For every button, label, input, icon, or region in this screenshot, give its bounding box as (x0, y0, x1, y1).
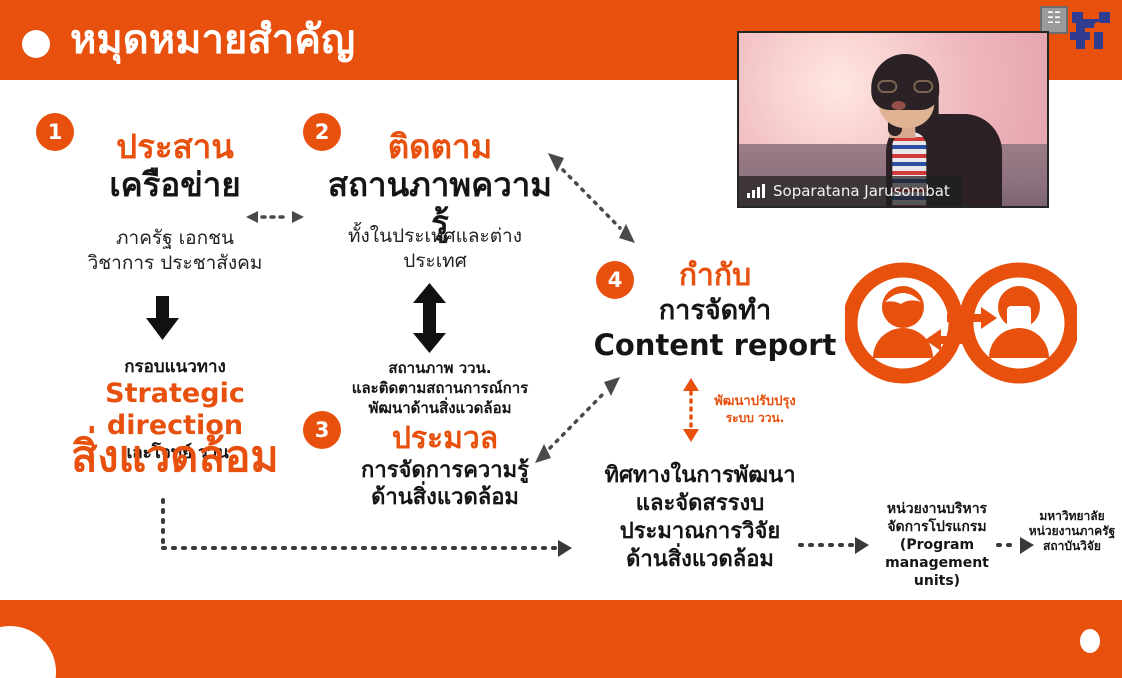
loop-up-down-dotted-arrow-icon (683, 378, 699, 442)
step-badge-3: 3 (303, 411, 341, 449)
program-label-line4: management (878, 554, 996, 572)
footer-circle-icon (0, 626, 56, 678)
loop-label-line1: พัฒนาปรับปรุง (700, 393, 810, 410)
step-1-title: ประสาน เครือข่าย (60, 128, 290, 204)
step-2-result-line2: และติดตามสถานการณ์การ (330, 378, 550, 398)
circle-bullet-icon (22, 30, 50, 58)
step-2-subtitle: ทั้งในประเทศและต่าง ประเทศ (340, 224, 530, 274)
slide-canvas: หมุดหมายสำคัญ ☷ สกสว (0, 0, 1122, 678)
university-label-line2: หน่วยงานภาครัฐ (1022, 524, 1122, 539)
connector-step2-step4 (548, 153, 635, 243)
two-people-exchange-icon (845, 262, 1077, 384)
step-2-result-line3: พัฒนาด้านสิ่งแวดล้อม (330, 398, 550, 418)
participant-name: Soparatana Jarusombat (773, 182, 950, 200)
step-4-body-line1: ทิศทางในการพัฒนา (575, 462, 825, 490)
step-2-subtitle-line1: ทั้งในประเทศและต่าง (340, 224, 530, 249)
program-label-line2: จัดการโปรแกรม (878, 518, 996, 536)
video-participant-tile[interactable]: Soparatana Jarusombat (737, 31, 1049, 208)
footer-dot-icon (1080, 629, 1100, 653)
step-4-title-dark-line1: การจัดทำ (580, 294, 850, 327)
program-label-line3: (Program (878, 536, 996, 554)
university-label-line1: มหาวิทยาลัย (1022, 509, 1122, 524)
video-name-bar: Soparatana Jarusombat (739, 176, 962, 206)
university-agencies-label: มหาวิทยาลัย หน่วยงานภาครัฐ สถาบันวิจัย (1022, 509, 1122, 554)
step-1-title-orange: ประสาน (60, 128, 290, 166)
video-person-mouth (892, 101, 906, 110)
sksw-mark-icon (1058, 10, 1114, 62)
step-2-subtitle-line2: ประเทศ (340, 249, 530, 274)
step-4-body-line3: ประมาณการวิจัย (575, 518, 825, 546)
step-1-result-line1: กรอบแนวทาง (40, 356, 310, 378)
step-4-body: ทิศทางในการพัฒนา และจัดสรรงบ ประมาณการวิ… (575, 462, 825, 574)
loop-label: พัฒนาปรับปรุง ระบบ ววน. (700, 393, 810, 427)
program-management-units-label: หน่วยงานบริหาร จัดการโปรแกรม (Program ma… (878, 500, 996, 590)
step-1-highlight: สิ่งแวดล้อม (35, 432, 315, 482)
step-1-title-dark: เครือข่าย (60, 166, 290, 204)
step-4-body-line4: ด้านสิ่งแวดล้อม (575, 546, 825, 574)
connector-step1-step2 (246, 211, 304, 223)
step-3-title-orange: ประมวล (345, 421, 545, 457)
step-4-body-line2: และจัดสรรงบ (575, 490, 825, 518)
step-4-title: กำกับ การจัดทำ Content report (580, 258, 850, 363)
video-person-glasses (877, 80, 933, 94)
step-2-result: สถานภาพ ววน. และติดตามสถานการณ์การ พัฒนา… (330, 358, 550, 418)
loop-label-line2: ระบบ ววน. (700, 410, 810, 427)
page-title: หมุดหมายสำคัญ (70, 14, 355, 66)
step-1-subtitle-line1: ภาครัฐ เอกชน (55, 226, 295, 251)
step-3-title-dark-line2: ด้านสิ่งแวดล้อม (345, 484, 545, 511)
program-label-line5: units) (878, 572, 996, 590)
program-label-line1: หน่วยงานบริหาร (878, 500, 996, 518)
step1-down-arrow-icon (146, 296, 179, 340)
step-2-result-line1: สถานภาพ ววน. (330, 358, 550, 378)
step-3-title-dark-line1: การจัดการความรู้ (345, 457, 545, 484)
step-4-title-dark-line2: Content report (580, 327, 850, 363)
step-3-title: ประมวล การจัดการความรู้ ด้านสิ่งแวดล้อม (345, 421, 545, 511)
step2-up-down-arrow-icon (413, 283, 446, 353)
step-4-title-orange: กำกับ (580, 258, 850, 294)
step-1-subtitle: ภาครัฐ เอกชน วิชาการ ประชาสังคม (55, 226, 295, 276)
step-1-subtitle-line2: วิชาการ ประชาสังคม (55, 251, 295, 276)
signal-bars-icon (747, 184, 765, 198)
step-2-title-orange: ติดตาม (320, 128, 560, 166)
university-label-line3: สถาบันวิจัย (1022, 539, 1122, 554)
footer-bar (0, 600, 1122, 678)
